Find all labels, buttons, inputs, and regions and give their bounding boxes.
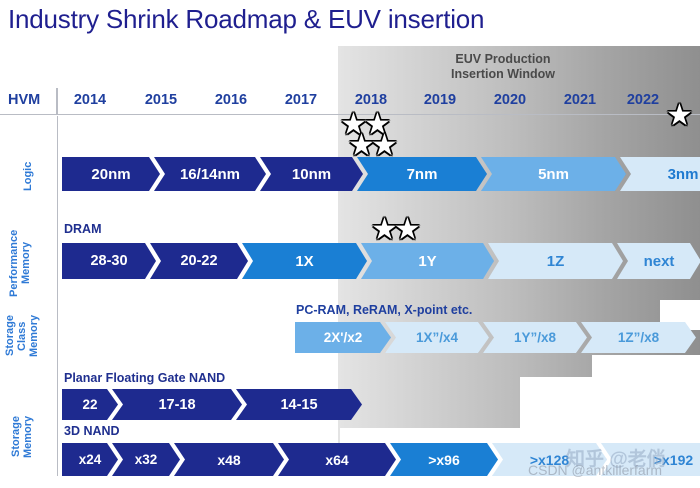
- planar-nand-track: 22 17-18 14-15: [62, 389, 362, 420]
- logic-track: 20nm 16/14nm 10nm 7nm 5nm 3nm: [62, 157, 696, 191]
- 3d-nand-node[interactable]: x48: [174, 443, 284, 476]
- scm-track: 2X'/x2 1X”/x4 1Y”/x8 1Z”/x8: [295, 322, 696, 353]
- dram-node[interactable]: next: [617, 243, 700, 279]
- row-label-storage-class-memory: Storage Class Memory: [4, 300, 40, 372]
- logic-node[interactable]: 5nm: [481, 157, 626, 191]
- year-header: 2022: [612, 92, 674, 108]
- dram-node[interactable]: 1X: [242, 243, 367, 279]
- window-mask: [520, 377, 700, 432]
- watermark-csdn: CSDN @antkillerfarm: [528, 462, 662, 478]
- logic-node[interactable]: 3nm: [620, 157, 700, 191]
- year-header: 2016: [200, 92, 262, 108]
- 3d-nand-caption: 3D NAND: [64, 424, 120, 438]
- row-label-performance-memory: Performance Memory: [8, 218, 32, 308]
- euv-layer-star-icon: ★: [666, 101, 693, 131]
- 3d-nand-node[interactable]: x64: [278, 443, 396, 476]
- 3d-nand-node[interactable]: >x96: [390, 443, 498, 476]
- scm-node[interactable]: 2X'/x2: [295, 322, 391, 353]
- scm-node[interactable]: 1Y”/x8: [483, 322, 587, 353]
- year-header: 2020: [479, 92, 541, 108]
- euv-layer-star-icon: ★: [394, 215, 421, 245]
- planar-nand-node[interactable]: 22: [62, 389, 118, 420]
- 3d-nand-node[interactable]: x32: [112, 443, 180, 476]
- logic-node[interactable]: 20nm: [62, 157, 160, 191]
- dram-caption: DRAM: [64, 222, 102, 236]
- euv-layer-star-icon: ★: [371, 131, 398, 161]
- euv-window-line1: EUV Production: [338, 52, 668, 67]
- planar-nand-node[interactable]: 17-18: [112, 389, 242, 420]
- scm-node[interactable]: 1Z”/x8: [581, 322, 696, 353]
- year-header: 2017: [270, 92, 332, 108]
- dram-node[interactable]: 20-22: [150, 243, 248, 279]
- planar-nand-node[interactable]: 14-15: [236, 389, 362, 420]
- dram-node[interactable]: 1Z: [488, 243, 623, 279]
- year-header: 2015: [130, 92, 192, 108]
- row-label-logic: Logic: [22, 152, 34, 200]
- row-label-storage-memory: Storage Memory: [10, 400, 34, 474]
- logic-node[interactable]: 7nm: [357, 157, 487, 191]
- scm-node[interactable]: 1X”/x4: [385, 322, 489, 353]
- dram-node[interactable]: 28-30: [62, 243, 156, 279]
- hvm-label: HVM: [8, 92, 40, 108]
- euv-window-line2: Insertion Window: [338, 67, 668, 82]
- 3d-nand-node[interactable]: x24: [62, 443, 118, 476]
- year-header: 2014: [59, 92, 121, 108]
- euv-window-label: EUV Production Insertion Window: [338, 52, 668, 82]
- dram-node[interactable]: 1Y: [361, 243, 494, 279]
- logic-node[interactable]: 10nm: [260, 157, 363, 191]
- page-title: Industry Shrink Roadmap & EUV insertion: [8, 4, 484, 35]
- left-axis-rule: [57, 116, 58, 476]
- year-header: 2021: [549, 92, 611, 108]
- dram-track: 28-30 20-22 1X 1Y 1Z next: [62, 243, 696, 279]
- planar-nand-caption: Planar Floating Gate NAND: [64, 371, 225, 385]
- scm-caption: PC-RAM, ReRAM, X-point etc.: [296, 303, 472, 317]
- year-header: 2019: [409, 92, 471, 108]
- window-mask: [592, 355, 700, 377]
- logic-node[interactable]: 16/14nm: [154, 157, 266, 191]
- year-header: 2018: [340, 92, 402, 108]
- hvm-divider: [56, 88, 58, 114]
